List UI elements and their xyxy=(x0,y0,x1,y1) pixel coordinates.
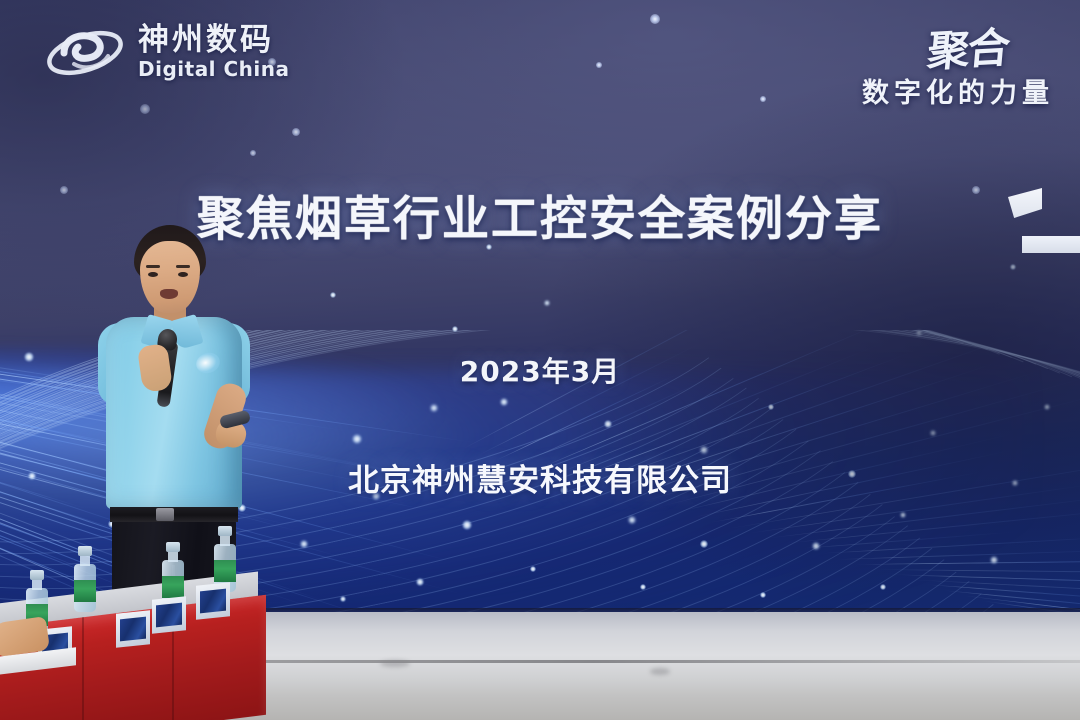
presenter-mouth xyxy=(160,289,178,299)
presenter-eye-left xyxy=(148,272,158,277)
front-row-table xyxy=(0,560,260,720)
name-card xyxy=(116,610,150,648)
digital-china-swirl-icon xyxy=(44,18,126,88)
presenter-eye-right xyxy=(178,272,188,277)
digital-china-logo: 神州数码 Digital China xyxy=(44,18,290,88)
logo-text-chinese: 神州数码 xyxy=(138,24,290,57)
presenter-belt-buckle xyxy=(156,508,174,521)
water-bottle xyxy=(74,546,96,612)
name-card xyxy=(152,596,186,634)
logo-text-english: Digital China xyxy=(138,57,290,82)
event-brand-logo: 聚合 数字化的力量 xyxy=(862,16,1054,110)
brand-calligraphy-text: 聚合 xyxy=(925,14,1011,79)
cloth-fold xyxy=(82,617,84,720)
name-card xyxy=(196,582,230,620)
presenter-eyebrow-right xyxy=(176,265,190,268)
floor-scuff-mark xyxy=(650,668,670,675)
presenter-eyebrow-left xyxy=(146,265,160,268)
presenter-face xyxy=(140,241,200,313)
presenter-belt xyxy=(110,507,238,522)
screenshot-root: 聚焦烟草行业工控安全案例分享 2023年3月 北京神州慧安科技有限公司 神州数码… xyxy=(0,0,1080,720)
